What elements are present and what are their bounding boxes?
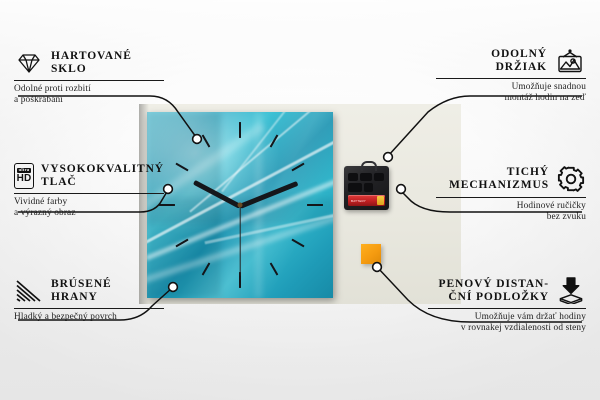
clock-marker-12 — [239, 122, 241, 138]
feature-bevelled-edges: BRÚSENÉ HRANY Hladký a bezpečný povrch — [14, 278, 164, 323]
foam-spacer-pad — [361, 244, 381, 264]
divider — [436, 78, 586, 79]
feature-title: ODOLNÝ DRŽIAK — [491, 48, 547, 74]
mechanism-shaft-icon — [361, 161, 377, 171]
gear-icon — [556, 165, 586, 193]
feature-title: VYSOKOKVALITNÝ TLAČ — [41, 163, 164, 189]
feature-header: ODOLNÝ DRŽIAK — [436, 48, 586, 74]
feature-title: BRÚSENÉ HRANY — [51, 278, 112, 304]
wall-hanger-picture-icon — [554, 48, 586, 74]
feature-header: PENOVÝ DISTAN- ČNÍ PODLOŽKY — [428, 277, 586, 304]
feature-header: ultra HD VYSOKOKVALITNÝ TLAČ — [14, 163, 164, 189]
feature-subtitle-2: montáž hodin na zeď — [436, 93, 586, 104]
divider — [428, 308, 586, 309]
feature-durable-holder: ODOLNÝ DRŽIAK Umožňuje snadnou montáž ho… — [436, 48, 586, 104]
product-photo: BATTERY — [139, 104, 461, 304]
clock-marker-3 — [307, 204, 323, 206]
feature-subtitle-2: bez zvuku — [436, 212, 586, 223]
clock-mechanism: BATTERY — [344, 166, 389, 210]
feature-silent-mechanism: TICHÝ MECHANIZMUS Hodinové ručičky bez z… — [436, 165, 586, 223]
divider — [14, 80, 164, 81]
feature-title: TICHÝ MECHANIZMUS — [449, 166, 549, 192]
diamond-icon — [14, 51, 44, 75]
glass-wall-clock — [147, 112, 333, 298]
mechanism-detail — [348, 173, 385, 193]
feature-high-quality-print: ultra HD VYSOKOKVALITNÝ TLAČ Vividné far… — [14, 163, 164, 219]
divider — [436, 197, 586, 198]
feature-subtitle-1: Vividné farby — [14, 197, 164, 208]
divider — [14, 193, 164, 194]
battery-plus-terminal — [377, 196, 384, 205]
feature-subtitle-1: Hodinové ručičky — [436, 201, 586, 212]
feature-header: BRÚSENÉ HRANY — [14, 278, 164, 304]
clock-second-hand — [239, 206, 240, 276]
feature-subtitle-1: Umožňuje snadnou — [436, 82, 586, 93]
feature-title: PENOVÝ DISTAN- ČNÍ PODLOŽKY — [439, 278, 549, 304]
feature-tempered-glass: HARTOVANÉ SKLO Odolné proti rozbití a po… — [14, 50, 164, 106]
feature-subtitle-1: Hladký a bezpečný povrch — [14, 312, 164, 323]
feature-subtitle-2: v rovnakej vzdialenosti od steny — [428, 323, 586, 334]
ultra-hd-badge-icon: ultra HD — [14, 163, 34, 189]
feature-subtitle-2: a výrazný obraz — [14, 208, 164, 219]
bevelled-edge-icon — [14, 279, 44, 303]
clock-center-hub — [238, 203, 243, 208]
aa-battery: BATTERY — [348, 195, 385, 206]
feature-subtitle-1: Umožňuje vám držať hodiny — [428, 312, 586, 323]
feature-foam-spacers: PENOVÝ DISTAN- ČNÍ PODLOŽKY Umožňuje vám… — [428, 277, 586, 334]
feature-title: HARTOVANÉ SKLO — [51, 50, 132, 76]
feature-header: HARTOVANÉ SKLO — [14, 50, 164, 76]
divider — [14, 308, 164, 309]
foam-spacer-icon — [556, 277, 586, 304]
feature-subtitle-1: Odolné proti rozbití — [14, 84, 164, 95]
feature-subtitle-2: a poškrábání — [14, 95, 164, 106]
feature-header: TICHÝ MECHANIZMUS — [436, 165, 586, 193]
badge-hd-label: HD — [17, 174, 32, 184]
infographic-canvas: BATTERY — [0, 0, 600, 400]
